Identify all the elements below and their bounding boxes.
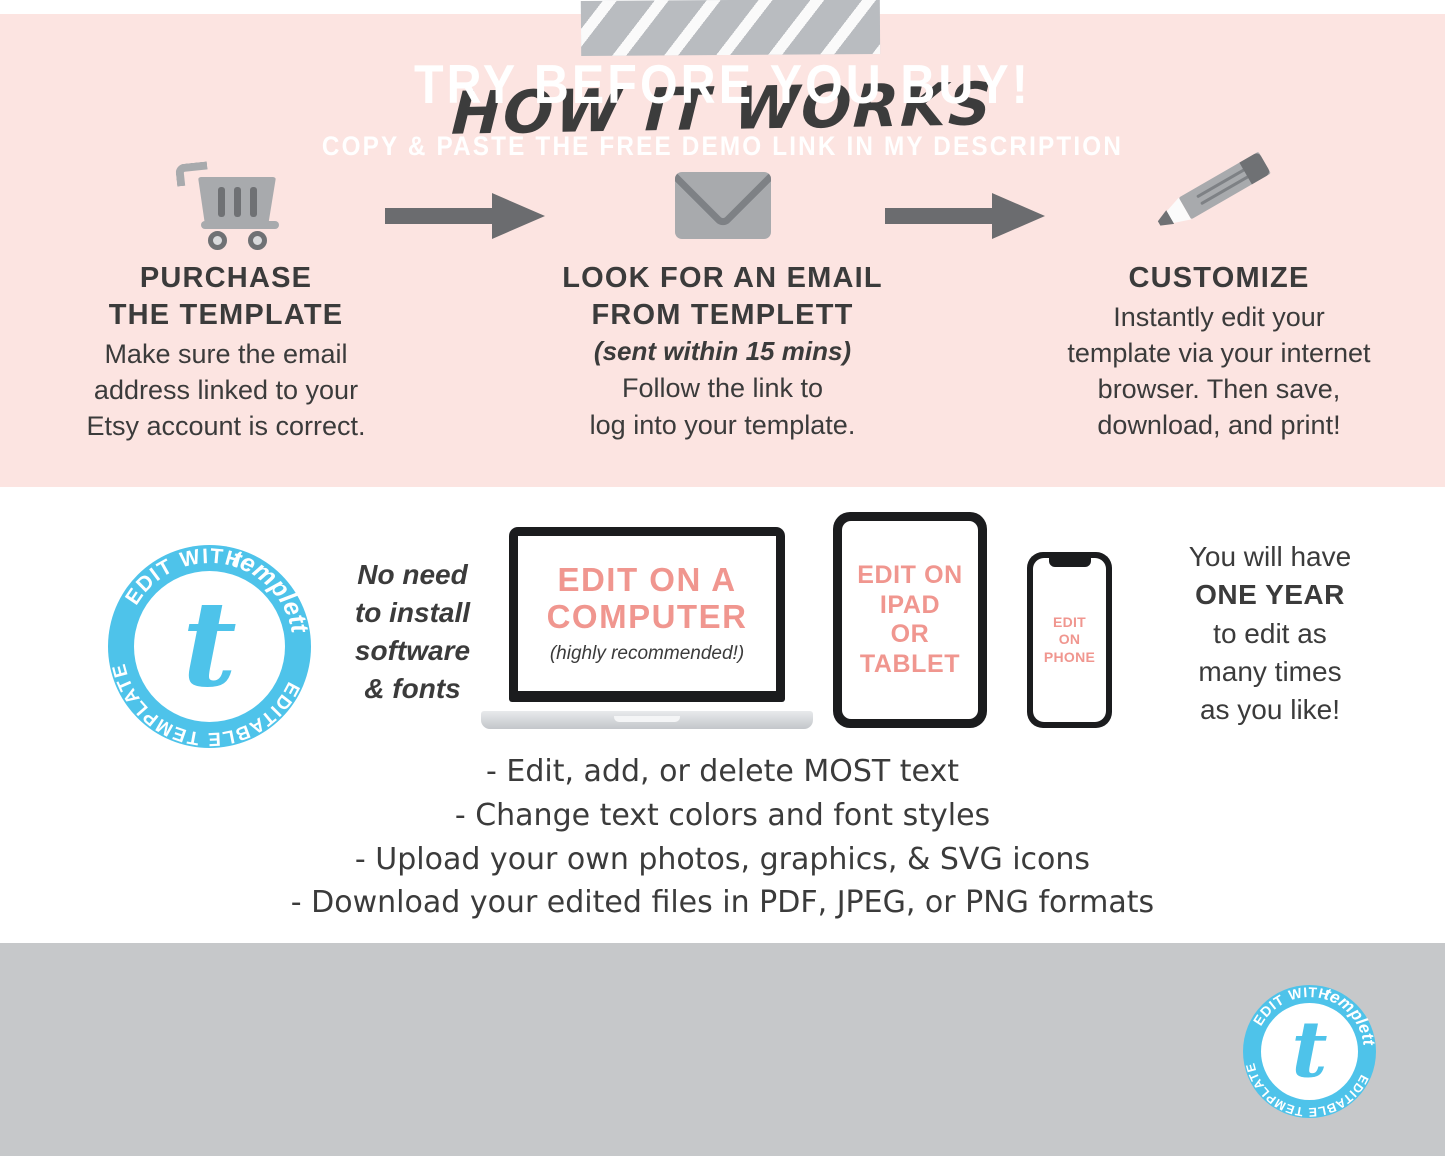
step-body-line: Follow the link to <box>537 370 909 406</box>
step-body-line: template via your internet <box>1033 335 1405 371</box>
no-need-line: & fonts <box>330 670 495 708</box>
phone-screen-line: EDIT <box>1044 614 1095 631</box>
laptop-screen: EDIT ON A COMPUTER (highly recommended!) <box>518 536 776 691</box>
envelope-icon <box>675 172 771 239</box>
cart-wheel <box>248 231 267 250</box>
step-body-line: download, and print! <box>1033 407 1405 443</box>
list-item: - Upload your own photos, graphics, & SV… <box>0 838 1445 882</box>
envelope-flap <box>675 172 771 229</box>
footer-subtitle: COPY & PASTE THE FREE DEMO LINK IN MY DE… <box>72 131 1373 162</box>
step-icon-slot <box>40 150 412 260</box>
laptop-screen-line: EDIT ON A <box>547 562 748 599</box>
step-body-line: Make sure the email <box>40 336 412 372</box>
badge-letter-t: t <box>108 585 311 703</box>
step-heading-line: FROM TEMPLETT <box>537 297 909 334</box>
one-year-text: You will have ONE YEAR to edit as many t… <box>1125 538 1415 730</box>
step-heading: LOOK FOR AN EMAIL FROM TEMPLETT <box>537 260 909 334</box>
laptop-base <box>481 711 813 729</box>
step-heading-line: THE TEMPLATE <box>40 297 412 334</box>
laptop-lid: EDIT ON A COMPUTER (highly recommended!) <box>509 527 785 702</box>
step-heading: CUSTOMIZE <box>1033 260 1405 297</box>
cart-wheel <box>208 231 227 250</box>
phone-notch <box>1049 558 1091 567</box>
phone-screen-line: PHONE <box>1044 649 1095 666</box>
steps-row: PURCHASE THE TEMPLATE Make sure the emai… <box>0 150 1445 444</box>
shopping-cart-icon <box>172 159 280 251</box>
feature-bullet-list: - Edit, add, or delete MOST text - Chang… <box>0 750 1445 925</box>
phone-screen-line: ON <box>1044 631 1095 648</box>
laptop-device: EDIT ON A COMPUTER (highly recommended!) <box>481 527 813 729</box>
one-year-line: to edit as <box>1125 615 1415 653</box>
step-customize: CUSTOMIZE Instantly edit your template v… <box>1033 150 1405 444</box>
cart-bar <box>250 187 257 217</box>
tablet-screen-line: IPAD <box>857 591 963 621</box>
one-year-line: many times <box>1125 653 1415 691</box>
step-icon-slot <box>537 150 909 260</box>
step-body-line: log into your template. <box>537 407 909 443</box>
list-item: - Change text colors and font styles <box>0 794 1445 838</box>
step-heading: PURCHASE THE TEMPLATE <box>40 260 412 334</box>
step-icon-slot <box>1033 150 1405 260</box>
templett-badge-large: EDIT WITH templett EDITABLE TEMPLATE t <box>108 545 311 748</box>
one-year-highlight: ONE YEAR <box>1195 579 1345 610</box>
step-look-for-email: LOOK FOR AN EMAIL FROM TEMPLETT (sent wi… <box>537 150 909 443</box>
step-body: Instantly edit your template via your in… <box>1033 299 1405 444</box>
one-year-highlight-wrap: ONE YEAR <box>1125 576 1415 614</box>
no-need-line: software <box>330 632 495 670</box>
cart-bar <box>234 187 241 217</box>
tablet-screen: EDIT ON IPAD OR TABLET <box>842 521 978 719</box>
cart-rail <box>201 221 279 229</box>
badge-letter-t: t <box>1243 1011 1376 1089</box>
step-note: (sent within 15 mins) <box>537 334 909 369</box>
phone-device: EDIT ON PHONE <box>1027 552 1112 728</box>
list-item: - Edit, add, or delete MOST text <box>0 750 1445 794</box>
no-need-line: No need <box>330 556 495 594</box>
pencil-icon <box>1161 162 1277 248</box>
step-heading-line: PURCHASE <box>40 260 412 297</box>
step-heading-line: CUSTOMIZE <box>1033 260 1405 297</box>
list-item: - Download your edited files in PDF, JPE… <box>0 881 1445 925</box>
step-body-line: Etsy account is correct. <box>40 408 412 444</box>
step-body: Make sure the email address linked to yo… <box>40 336 412 445</box>
cart-bar <box>218 187 225 217</box>
tablet-screen-line: OR <box>857 620 963 650</box>
step-body-line: address linked to your <box>40 372 412 408</box>
footer-title: TRY BEFORE YOU BUY! <box>87 52 1359 116</box>
step-body-line: Instantly edit your <box>1033 299 1405 335</box>
tablet-screen-heading: EDIT ON IPAD OR TABLET <box>857 561 963 679</box>
washi-tape-icon <box>581 0 880 56</box>
laptop-screen-line: COMPUTER <box>547 599 748 636</box>
step-body-line: browser. Then save, <box>1033 371 1405 407</box>
one-year-line: You will have <box>1125 538 1415 576</box>
phone-screen-heading: EDIT ON PHONE <box>1044 614 1095 665</box>
no-need-line: to install <box>330 594 495 632</box>
step-purchase: PURCHASE THE TEMPLATE Make sure the emai… <box>40 150 412 444</box>
laptop-screen-heading: EDIT ON A COMPUTER <box>547 562 748 636</box>
tablet-screen-line: TABLET <box>857 650 963 680</box>
step-heading-line: LOOK FOR AN EMAIL <box>537 260 909 297</box>
phone-screen: EDIT ON PHONE <box>1033 558 1106 722</box>
laptop-screen-note: (highly recommended!) <box>550 643 744 665</box>
no-need-text: No need to install software & fonts <box>330 556 495 708</box>
try-before-you-buy-banner <box>0 943 1445 1156</box>
templett-badge-small: EDIT WITH templett EDITABLE TEMPLATE t <box>1243 985 1376 1118</box>
tablet-screen-line: EDIT ON <box>857 561 963 591</box>
laptop-trackpad-notch <box>614 716 680 722</box>
one-year-line: as you like! <box>1125 691 1415 729</box>
step-body: Follow the link to log into your templat… <box>537 370 909 442</box>
tablet-device: EDIT ON IPAD OR TABLET <box>833 512 987 728</box>
